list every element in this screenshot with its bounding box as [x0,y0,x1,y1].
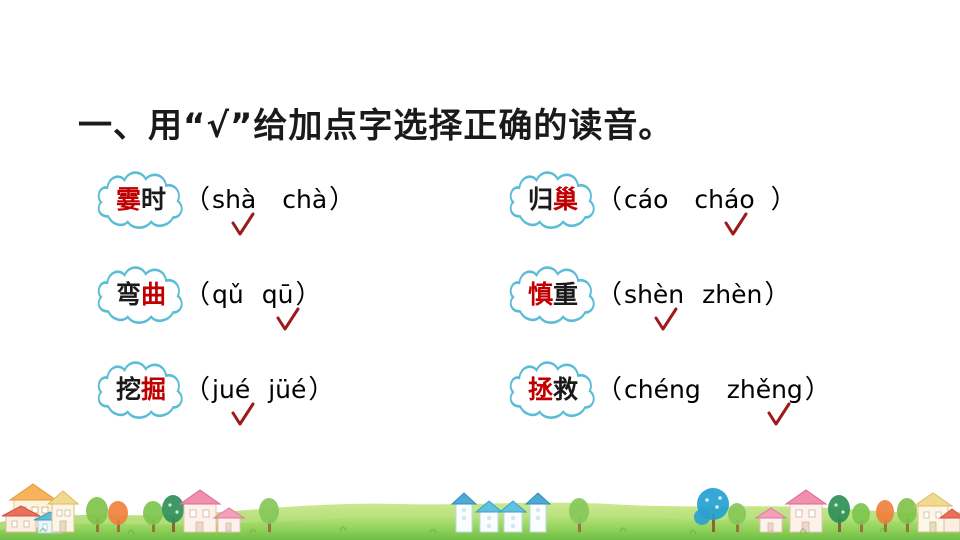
word-bubble: 挖掘 [100,367,182,413]
exercise-item: 归巢 （cáocháo） [512,175,942,270]
worksheet-page: 一、用“√”给加点字选择正确的读音。 霎时 （shàchà） [0,0,960,540]
pinyin-option[interactable]: jüé [266,373,308,407]
pinyin-option-label: qǔ [212,280,244,309]
page-title: 一、用“√”给加点字选择正确的读音。 [78,98,673,147]
pinyin-option-label: cáo [624,185,668,214]
pinyin-choices: （juéjüé） [184,373,334,407]
house-group-right-a [756,490,826,532]
word-bubble: 慎重 [512,272,594,318]
close-paren: ） [295,280,321,310]
house-group-mid-left [180,490,244,532]
pinyin-option[interactable]: jué [210,373,252,407]
exercise-item: 霎时 （shàchà） [100,175,500,270]
pinyin-choices: （cáocháo） [596,183,797,217]
pinyin-option-label: shèn [624,280,684,309]
word-char: 弯 [116,280,141,309]
pinyin-option-label: zhěng [727,375,803,404]
word-bubble: 拯救 [512,367,594,413]
pinyin-option-label: shà [212,185,256,214]
word-bubble: 弯曲 [100,272,182,318]
pinyin-option-label: zhèn [702,280,762,309]
check-mark-icon [230,402,256,428]
pinyin-option[interactable]: shèn [622,278,686,312]
close-paren: ） [308,375,334,405]
open-paren: （ [596,280,622,310]
pinyin-option[interactable]: qǔ [210,278,246,312]
pinyin-choices: （qǔqū） [184,278,321,312]
exercise-column-left: 霎时 （shàchà） 弯曲 （qǔqū） [100,175,500,460]
footer-decoration [0,460,960,540]
word-char: 巢 [553,185,578,214]
close-paren: ） [805,375,831,405]
pinyin-option[interactable]: zhèn [700,278,764,312]
pinyin-option-label: chà [282,185,327,214]
word-char: 慎 [528,280,553,309]
word-char: 重 [553,280,578,309]
pinyin-option[interactable]: chéng [622,373,703,407]
word-char: 救 [553,375,578,404]
open-paren: （ [184,185,210,215]
house-group-far-right [914,493,960,532]
word-text: 挖掘 [116,375,166,404]
house-group-left [2,484,78,533]
check-mark-icon [766,402,792,428]
word-char: 归 [528,185,553,214]
pinyin-option-label: jué [212,375,250,404]
check-mark-icon [653,307,679,333]
word-char: 曲 [141,280,166,309]
pinyin-option-label: chéng [624,375,701,404]
word-text: 弯曲 [116,280,166,309]
word-char: 霎 [116,185,141,214]
exercise-column-right: 归巢 （cáocháo） 慎重 （shènzhèn） [512,175,942,460]
pinyin-option-label: qū [262,280,294,309]
pinyin-option[interactable]: zhěng [725,373,805,407]
pinyin-option-label: cháo [694,185,754,214]
check-mark-icon [230,212,256,238]
word-text: 慎重 [528,280,578,309]
pinyin-option[interactable]: shà [210,183,258,217]
pinyin-option[interactable]: chà [280,183,329,217]
pinyin-option[interactable]: cháo [692,183,756,217]
open-paren: （ [184,375,210,405]
close-paren: ） [329,185,355,215]
word-text: 拯救 [528,375,578,404]
pinyin-option[interactable]: cáo [622,183,670,217]
check-mark-icon [275,307,301,333]
word-bubble: 霎时 [100,177,182,223]
exercise-item: 弯曲 （qǔqū） [100,270,500,365]
exercise-item: 慎重 （shènzhèn） [512,270,942,365]
exercise-item: 拯救 （chéngzhěng） [512,365,942,460]
pinyin-choices: （shènzhèn） [596,278,790,312]
pinyin-option[interactable]: qū [260,278,296,312]
exercise-item: 挖掘 （juéjüé） [100,365,500,460]
pinyin-option-label: jüé [268,375,306,404]
word-bubble: 归巢 [512,177,594,223]
word-char: 掘 [141,375,166,404]
pinyin-choices: （shàchà） [184,183,355,217]
word-char: 挖 [116,375,141,404]
village-border-illustration [0,460,960,540]
open-paren: （ [184,280,210,310]
pinyin-choices: （chéngzhěng） [596,373,831,407]
word-text: 归巢 [528,185,578,214]
open-paren: （ [596,185,622,215]
word-char: 时 [141,185,166,214]
word-text: 霎时 [116,185,166,214]
word-char: 拯 [528,375,553,404]
check-mark-icon [723,212,749,238]
close-paren: ） [764,280,790,310]
close-paren: ） [771,185,797,215]
open-paren: （ [596,375,622,405]
